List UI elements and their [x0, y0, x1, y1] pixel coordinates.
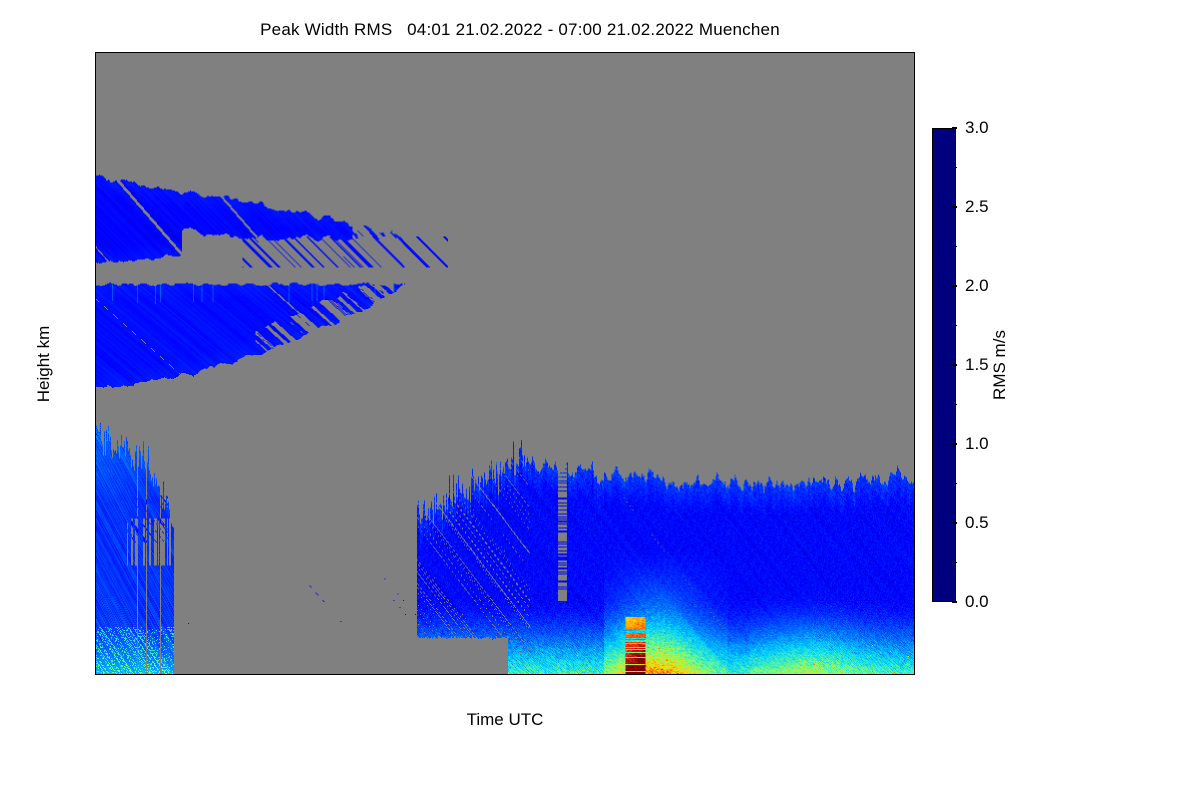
x-axis-tick: [411, 52, 413, 53]
y-axis-tick: [95, 649, 96, 651]
heatmap-plot-area[interactable]: 02468101204:3005:0005:3006:0006:3007:00: [95, 52, 915, 675]
y-axis-tick: [914, 286, 915, 288]
colorbar-tick: [952, 522, 957, 523]
x-axis-tick: [503, 52, 505, 53]
x-axis-tick: [411, 674, 413, 675]
y-axis-tick: [914, 623, 915, 625]
colorbar-tick-label: 1.0: [965, 434, 989, 454]
figure-root: Peak Width RMS 04:01 21.02.2022 - 07:00 …: [0, 0, 1200, 800]
y-axis-tick: [914, 104, 915, 106]
x-axis-tick: [640, 674, 642, 675]
colorbar[interactable]: 0.00.51.01.52.02.53.0: [932, 128, 956, 602]
x-axis-tick: [366, 674, 368, 675]
x-axis-tick: [228, 52, 230, 53]
colorbar-tick: [952, 206, 957, 207]
x-axis-tick: [457, 674, 459, 675]
y-axis-tick: [914, 520, 915, 522]
colorbar-tick: [954, 562, 957, 563]
y-axis-tick: [95, 52, 96, 54]
colorbar-tick: [952, 443, 957, 444]
y-axis-tick: [914, 597, 915, 599]
y-axis-tick: [95, 234, 96, 236]
colorbar-tick: [952, 364, 957, 365]
colorbar-title: RMS m/s: [990, 330, 1010, 400]
y-axis-tick: [95, 260, 96, 262]
y-axis-tick: [95, 182, 96, 184]
colorbar-tick-label: 2.5: [965, 197, 989, 217]
y-axis-tick: [95, 338, 96, 340]
colorbar-tick: [954, 483, 957, 484]
y-axis-tick: [914, 338, 915, 340]
y-axis-tick: [95, 442, 96, 444]
y-axis-tick: [914, 416, 915, 418]
x-axis-tick: [869, 52, 871, 53]
y-axis-tick: [914, 649, 915, 651]
x-axis-tick: [732, 674, 734, 675]
y-axis-tick: [914, 390, 915, 392]
y-axis-tick: [95, 364, 96, 366]
colorbar-tick: [954, 404, 957, 405]
x-axis-tick: [136, 52, 138, 53]
y-axis-tick: [95, 390, 96, 392]
x-axis-tick: [320, 674, 322, 675]
x-axis-tick: [595, 674, 597, 675]
colorbar-tick-label: 3.0: [965, 118, 989, 138]
colorbar-tick-label: 1.5: [965, 355, 989, 375]
x-axis-tick: [686, 674, 688, 675]
colorbar-tick: [952, 285, 957, 286]
y-axis-tick: [95, 520, 96, 522]
colorbar-tick-label: 2.0: [965, 276, 989, 296]
y-axis-tick: [914, 130, 915, 132]
x-axis-tick: [182, 674, 184, 675]
x-axis-tick: [824, 52, 826, 53]
x-axis-tick: [732, 52, 734, 53]
radar-field-canvas: [96, 53, 914, 674]
x-axis-tick: [549, 52, 551, 53]
y-axis-tick: [914, 234, 915, 236]
y-axis-tick: [914, 545, 915, 547]
x-axis-tick: [869, 674, 871, 675]
y-axis-tick: [95, 468, 96, 470]
page-title: Peak Width RMS 04:01 21.02.2022 - 07:00 …: [0, 20, 1040, 40]
y-axis-tick: [914, 260, 915, 262]
x-axis-tick: [274, 52, 276, 53]
y-axis-tick: [914, 468, 915, 470]
y-axis-tick: [95, 104, 96, 106]
y-axis-tick: [95, 494, 96, 496]
x-axis-tick: [778, 674, 780, 675]
y-axis-tick: [95, 597, 96, 599]
x-axis-tick: [274, 674, 276, 675]
y-axis-tick: [95, 416, 96, 418]
y-axis-tick: [95, 208, 96, 210]
y-axis-tick: [914, 208, 915, 210]
x-axis-tick: [686, 52, 688, 53]
y-axis-tick: [914, 156, 915, 158]
x-axis-tick: [824, 674, 826, 675]
y-axis-tick: [95, 545, 96, 547]
x-axis-tick: [366, 52, 368, 53]
colorbar-tick: [952, 127, 957, 128]
x-axis-tick: [503, 674, 505, 675]
y-axis-tick: [914, 312, 915, 314]
x-axis-tick: [549, 674, 551, 675]
y-axis-tick: [95, 312, 96, 314]
y-axis-tick: [914, 182, 915, 184]
x-axis-tick: [182, 52, 184, 53]
colorbar-tick-label: 0.0: [965, 592, 989, 612]
x-axis-tick: [457, 52, 459, 53]
x-axis-tick: [595, 52, 597, 53]
x-axis-tick: [778, 52, 780, 53]
y-axis-tick: [95, 78, 96, 80]
x-axis-tick: [136, 674, 138, 675]
y-axis-tick: [95, 286, 96, 288]
colorbar-tick: [954, 325, 957, 326]
x-axis-tick: [640, 52, 642, 53]
colorbar-tick: [954, 167, 957, 168]
y-axis-tick: [914, 364, 915, 366]
colorbar-tick-label: 0.5: [965, 513, 989, 533]
x-axis-title: Time UTC: [467, 710, 544, 730]
x-axis-tick: [228, 674, 230, 675]
colorbar-tick: [954, 246, 957, 247]
y-axis-title: Height km: [34, 326, 54, 403]
y-axis-tick: [914, 78, 915, 80]
y-axis-tick: [914, 442, 915, 444]
y-axis-tick: [95, 156, 96, 158]
y-axis-tick: [95, 571, 96, 573]
x-axis-tick: [320, 52, 322, 53]
y-axis-tick: [914, 52, 915, 54]
colorbar-tick: [952, 601, 957, 602]
y-axis-tick: [95, 623, 96, 625]
y-axis-tick: [914, 571, 915, 573]
y-axis-tick: [95, 130, 96, 132]
y-axis-tick: [914, 494, 915, 496]
